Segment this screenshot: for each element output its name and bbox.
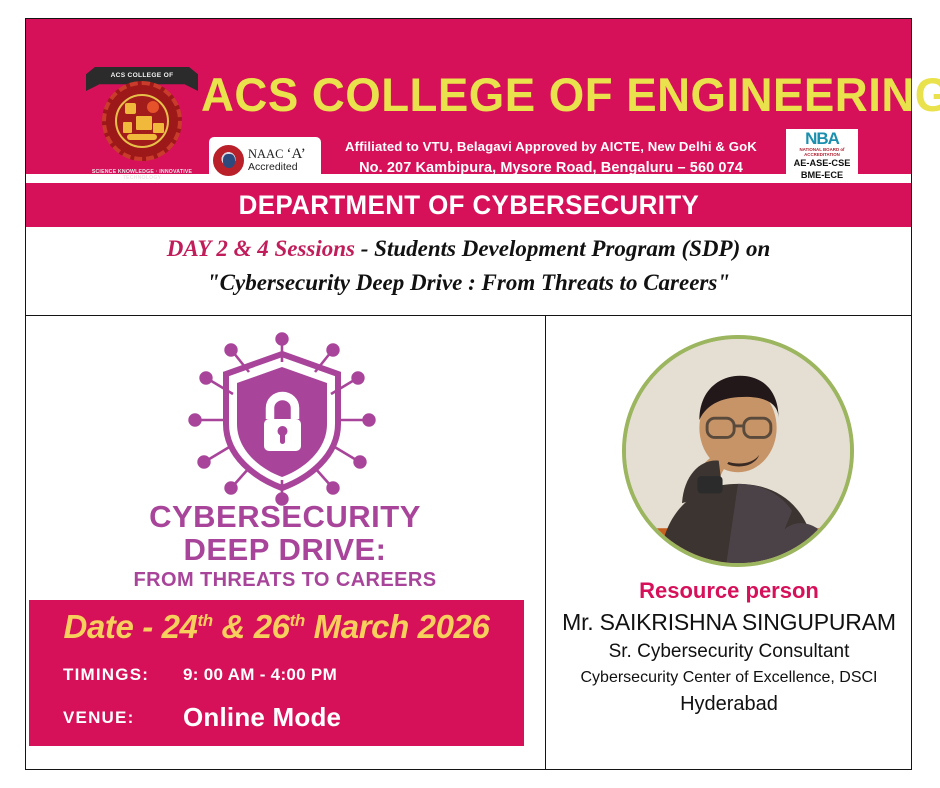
event-date: Date - 24th & 26th March 2026 [29, 608, 524, 646]
timings-label: TIMINGS: [63, 665, 183, 685]
page-title: ACS COLLEGE OF ENGINEERING [201, 67, 895, 122]
affiliation-line-2: No. 207 Kambipura, Mysore Road, Bengalur… [331, 157, 771, 179]
graphic-caption-line-3: FROM THREATS TO CAREERS [45, 566, 525, 594]
nba-subtitle: NATIONAL BOARD of ACCREDITATION [786, 147, 858, 157]
resource-person-role: Sr. Cybersecurity Consultant [548, 638, 910, 666]
event-title-line-1: DAY 2 & 4 Sessions - Students Developmen… [26, 232, 911, 266]
horizontal-divider [26, 315, 911, 316]
naac-accredited-label: Accredited [248, 162, 306, 173]
event-date-prefix: Date - 24 [64, 608, 198, 645]
nba-codes-line-1: AE-ASE-CSE [786, 158, 858, 169]
nba-accreditation-badge: NBA NATIONAL BOARD of ACCREDITATION AE-A… [786, 129, 858, 187]
venue-row: VENUE: Online Mode [63, 699, 341, 730]
college-header: ACS COLLEGE OF ENGINEERING SCIENCE KNOWL… [26, 19, 911, 174]
schedule-block: Date - 24th & 26th March 2026 TIMINGS: 9… [29, 600, 524, 746]
shield-lock-network-icon [175, 332, 390, 507]
seal-emblem-atom-icon [147, 101, 159, 113]
affiliation-block: Affiliated to VTU, Belagavi Approved by … [331, 137, 771, 179]
nba-codes-line-2: BME-ECE [786, 170, 858, 181]
event-title-line-2: "Cybersecurity Deep Drive : From Threats… [26, 266, 911, 300]
graphic-caption-line-2: DEEP DRIVE: [45, 533, 525, 566]
affiliation-line-1: Affiliated to VTU, Belagavi Approved by … [331, 137, 771, 157]
seal-outer-gear [102, 81, 182, 161]
graphic-caption: CYBERSECURITY DEEP DRIVE: FROM THREATS T… [45, 500, 525, 594]
timings-row: TIMINGS: 9: 00 AM - 4:00 PM [63, 665, 337, 685]
timings-value: 9: 00 AM - 4:00 PM [183, 665, 337, 685]
event-poster: ACS COLLEGE OF ENGINEERING SCIENCE KNOWL… [0, 0, 940, 788]
naac-grade-line: NAAC ‘A’ [248, 147, 306, 163]
avatar [622, 335, 854, 567]
event-date-suffix: March 2026 [305, 608, 490, 645]
graphic-caption-line-1: CYBERSECURITY [45, 500, 525, 533]
seal-emblem-plane-icon [153, 123, 164, 133]
seal-inner-disc [115, 94, 169, 148]
department-banner: DEPARTMENT OF CYBERSECURITY [26, 183, 911, 227]
seal-emblem-scroll-icon [136, 116, 152, 130]
naac-accreditation-badge: NAAC ‘A’ Accredited [209, 137, 321, 183]
event-date-sup-1: th [198, 611, 213, 630]
venue-label: VENUE: [63, 708, 183, 728]
event-date-mid: & 26 [213, 608, 290, 645]
resource-person-block: Resource person Mr. SAIKRISHNA SINGUPURA… [548, 576, 910, 718]
event-title-block: DAY 2 & 4 Sessions - Students Developmen… [26, 232, 911, 314]
seal-emblem-compass-icon [123, 122, 132, 133]
venue-value: Online Mode [183, 702, 341, 733]
event-title-rest: - Students Development Program (SDP) on [355, 236, 770, 261]
resource-person-organization: Cybersecurity Center of Excellence, DSCI [548, 666, 910, 690]
vertical-divider [545, 315, 546, 769]
seal-motto-text: SCIENCE KNOWLEDGE · INNOVATIVE TECHNOLOG… [90, 169, 194, 181]
resource-person-city: Hyderabad [548, 690, 910, 718]
seal-emblem-book-icon [125, 103, 136, 114]
nba-logo-text: NBA [786, 131, 858, 147]
resource-person-heading: Resource person [548, 576, 910, 606]
event-date-sup-2: th [290, 611, 305, 630]
acs-college-seal-logo: ACS COLLEGE OF ENGINEERING SCIENCE KNOWL… [86, 59, 198, 179]
resource-person-name: Mr. SAIKRISHNA SINGUPURAM [548, 606, 910, 638]
department-label: DEPARTMENT OF CYBERSECURITY [238, 190, 699, 221]
naac-emblem-icon [213, 145, 244, 176]
event-title-accent: DAY 2 & 4 Sessions [167, 236, 355, 261]
seal-emblem-hand-icon [127, 134, 157, 140]
